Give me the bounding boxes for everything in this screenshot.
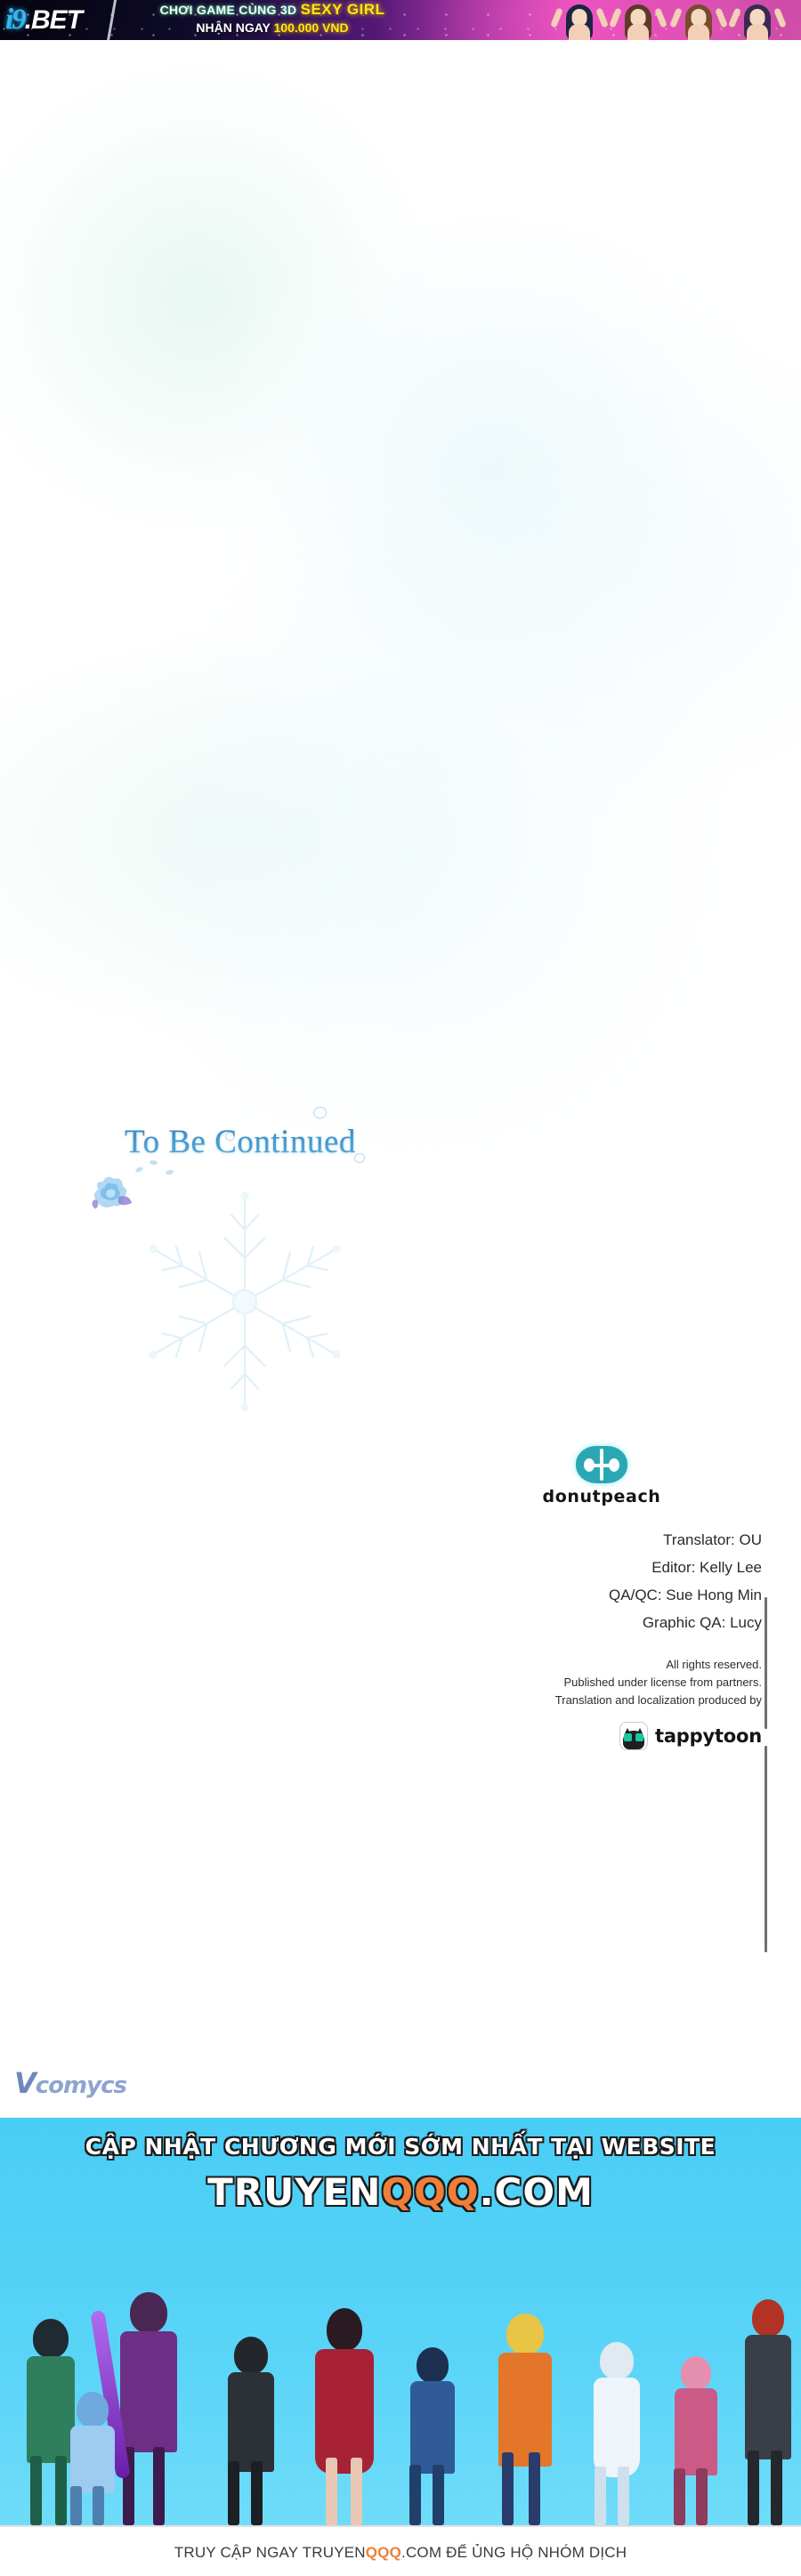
background-wash	[0, 67, 445, 529]
spirit-white-icon	[578, 2342, 655, 2525]
to-be-continued-caption: To Be Continued	[0, 1123, 481, 1161]
character-lineup	[0, 2258, 801, 2525]
ad-line1-highlight: SEXY GIRL	[301, 1, 385, 18]
bottom-cta-text: TRUY CẬP NGAY TRUYENQQQ.COM ĐỂ ỦNG HỘ NH…	[174, 2544, 627, 2562]
to-be-continued-text: To Be Continued	[125, 1123, 356, 1161]
site-part1: TRUYEN	[207, 2170, 381, 2214]
ad-line1-text: CHƠI GAME CÙNG 3D	[159, 3, 296, 17]
promo-headline: CẬP NHẬT CHƯƠNG MỚI SỚM NHẤT TẠI WEBSITE	[0, 2134, 801, 2160]
comic-reader-page: i9 .BET CHƠI GAME CÙNG 3D SEXY GIRL NHẬN…	[0, 0, 801, 2576]
watermark-initial: V	[14, 2066, 36, 2100]
credit-line: QA/QC: Sue Hong Min	[392, 1581, 762, 1609]
cta-highlight: QQQ	[366, 2544, 401, 2561]
legal-line: Translation and localization produced by	[392, 1692, 762, 1709]
fighter-pink-icon	[660, 2356, 732, 2525]
studio-name: donutpeach	[543, 1487, 661, 1506]
credit-line: Editor: Kelly Lee	[392, 1554, 762, 1581]
samurai-red-icon	[735, 2299, 801, 2525]
ninja-orange-icon	[481, 2314, 570, 2525]
ad-brand-suffix: .BET	[25, 7, 82, 34]
site-part3: .COM	[480, 2170, 594, 2214]
ad-promo-text: CHƠI GAME CÙNG 3D SEXY GIRL NHẬN NGAY 10…	[121, 1, 424, 39]
swordsman-dark-icon	[210, 2337, 292, 2525]
promo-headline-block: CẬP NHẬT CHƯƠNG MỚI SỚM NHẤT TẠI WEBSITE…	[0, 2134, 801, 2214]
promo-site-name: TRUYENQQQ.COM	[0, 2170, 801, 2214]
watermark-rest: comycs	[36, 2072, 126, 2099]
cta-prefix: TRUY CẬP NGAY TRUYEN	[174, 2544, 366, 2561]
staff-credits-list: Translator: OU Editor: Kelly Lee QA/QC: …	[392, 1526, 801, 1636]
bottom-cta-strip[interactable]: TRUY CẬP NGAY TRUYENQQQ.COM ĐỂ ỦNG HỘ NH…	[0, 2525, 801, 2576]
ice-crystal-icon	[313, 1107, 327, 1118]
legal-notice: All rights reserved. Published under lic…	[392, 1656, 801, 1709]
credits-divider	[765, 1746, 767, 1952]
boy-blue-icon	[55, 2392, 130, 2525]
snowflake-icon	[116, 1173, 374, 1431]
legal-line: Published under license from partners.	[392, 1674, 762, 1692]
credit-line: Translator: OU	[392, 1526, 762, 1554]
ad-line2-amount: 100.000 VND	[274, 20, 349, 35]
rose-icon	[89, 1171, 135, 1212]
ad-line2-text: NHẬN NGAY	[196, 20, 270, 35]
legal-line: All rights reserved.	[392, 1656, 762, 1674]
girl-red-dress-icon	[301, 2308, 388, 2525]
bottom-promo-banner[interactable]: CẬP NHẬT CHƯƠNG MỚI SỚM NHẤT TẠI WEBSITE…	[0, 2118, 801, 2525]
i9bet-logo-icon[interactable]: i9 .BET	[5, 2, 105, 38]
ad-brand-prefix: i9	[5, 5, 25, 35]
top-advertisement-banner[interactable]: i9 .BET CHƠI GAME CÙNG 3D SEXY GIRL NHẬN…	[0, 0, 801, 40]
background-wash	[71, 538, 748, 1161]
cta-suffix: .COM ĐỂ ỦNG HỘ NHÓM DỊCH	[401, 2544, 627, 2561]
credits-block: donutpeach Translator: OU Editor: Kelly …	[392, 1446, 801, 1750]
tappytoon-cat-icon	[619, 1722, 648, 1750]
credits-divider	[765, 1597, 767, 1729]
credit-line: Graphic QA: Lucy	[392, 1609, 762, 1636]
background-wash	[178, 218, 801, 716]
vcomycs-watermark: Vcomycs	[14, 2066, 126, 2100]
publisher-name: tappytoon	[655, 1725, 762, 1747]
donutpeach-logo-icon: donutpeach	[392, 1446, 801, 1515]
ninja-blue-icon	[393, 2347, 472, 2525]
girl-character-icon	[507, 0, 801, 40]
site-part2: QQQ	[381, 2170, 479, 2214]
publisher-logo: tappytoon	[392, 1722, 801, 1750]
